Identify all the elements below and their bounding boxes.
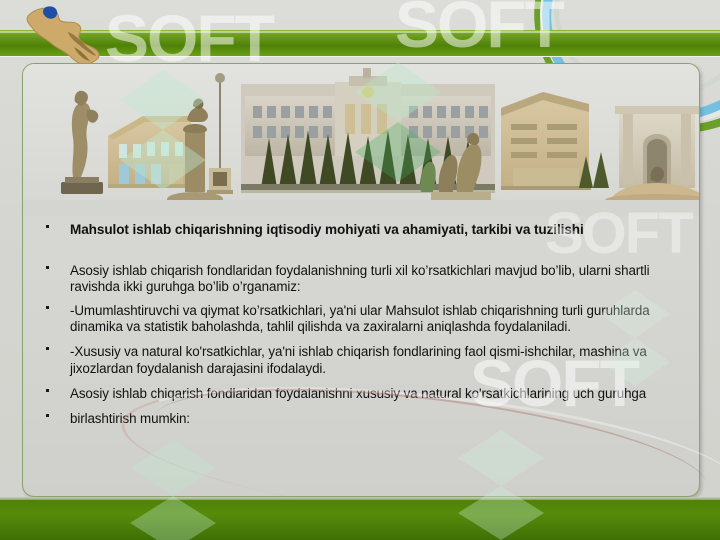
- list-item-text: -Xususiy va natural ko'rsatkichlar, ya'n…: [70, 344, 647, 375]
- list-item-text: -Umumlashtiruvchi va qiymat ko’rsatkichl…: [70, 303, 650, 334]
- list-item: -Xususiy va natural ko'rsatkichlar, ya'n…: [43, 344, 693, 376]
- content-panel: Mahsulot ishlab chiqarishning iqtisodiy …: [22, 63, 700, 497]
- list-item: -Umumlashtiruvchi va qiymat ko’rsatkichl…: [43, 303, 693, 335]
- bullet-dot-icon: [46, 306, 49, 309]
- list-item: Asosiy ishlab chiqarish fondlaridan foyd…: [43, 386, 693, 402]
- list-item: birlashtirish mumkin:: [43, 411, 693, 427]
- bullet-dot-icon: [46, 389, 49, 392]
- list-item-text: Asosiy ishlab chiqarish fondlaridan foyd…: [70, 263, 650, 294]
- list-item-text: Asosiy ishlab chiqarish fondlaridan foyd…: [70, 386, 646, 401]
- list-item-text: Mahsulot ishlab chiqarishning iqtisodiy …: [70, 222, 584, 237]
- footer-green-band: [0, 500, 720, 540]
- photo-strip: [23, 64, 699, 216]
- bullet-dot-icon: [46, 347, 49, 350]
- list-item: Asosiy ishlab chiqarish fondlaridan foyd…: [43, 263, 693, 295]
- bullet-dot-icon: [46, 266, 49, 269]
- list-item-title: Mahsulot ishlab chiqarishning iqtisodiy …: [43, 222, 693, 239]
- list-item-text: birlashtirish mumkin:: [70, 411, 190, 426]
- header-green-band: [0, 30, 720, 56]
- bullet-dot-icon: [46, 414, 49, 417]
- slide-canvas: Mahsulot ishlab chiqarishning iqtisodiy …: [0, 0, 720, 540]
- uzbekistan-map-icon: [24, 2, 108, 72]
- header-band-highlight: [0, 31, 720, 33]
- bullet-dot-icon: [46, 225, 49, 228]
- bullet-list: Mahsulot ishlab chiqarishning iqtisodiy …: [43, 222, 693, 427]
